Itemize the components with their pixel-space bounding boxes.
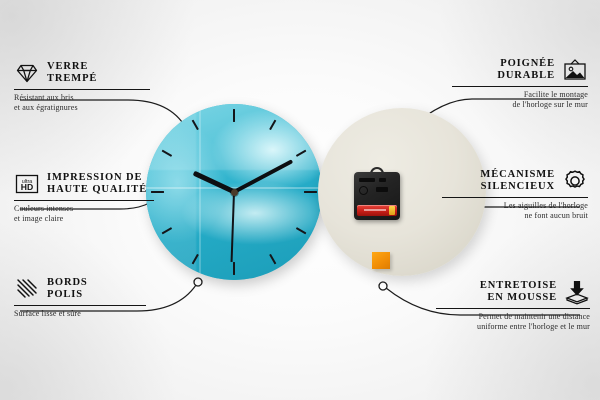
feature-header: VERRE TREMPÉ xyxy=(14,60,150,86)
arrow-press-layer-icon xyxy=(564,279,590,305)
clock-tick-3 xyxy=(234,191,322,193)
divider xyxy=(14,200,154,201)
feature-title: MÉCANISME SILENCIEUX xyxy=(480,169,555,194)
mechanism-detail xyxy=(376,187,388,192)
feature-poignee-durable: POIGNÉE DURABLE Facilite le montage de l… xyxy=(452,57,588,109)
feature-impression-haute-qualite: ultra HD IMPRESSION DE HAUTE QUALITÉ Cou… xyxy=(14,171,154,223)
feature-title: BORDS POLIS xyxy=(47,277,88,302)
feature-description: Résistant aux bris et aux égratignures xyxy=(14,93,150,112)
feature-header: ultra HD IMPRESSION DE HAUTE QUALITÉ xyxy=(14,171,154,197)
clock-mechanism xyxy=(354,172,400,220)
feature-description: Permet de maintenir une distance uniform… xyxy=(436,312,590,331)
feature-title: POIGNÉE DURABLE xyxy=(497,58,555,83)
divider xyxy=(436,308,590,309)
diamond-icon xyxy=(14,60,40,86)
battery-stripe xyxy=(364,209,386,211)
clock-tick-9 xyxy=(146,191,234,193)
feature-verre-trempe: VERRE TREMPÉ Résistant aux bris et aux é… xyxy=(14,60,150,112)
divider xyxy=(14,89,150,90)
feature-header: POIGNÉE DURABLE xyxy=(452,57,588,83)
feature-description: Surface lisse et sûre xyxy=(14,309,146,319)
connector-node-entretoise xyxy=(379,282,387,290)
divider xyxy=(442,197,588,198)
svg-text:HD: HD xyxy=(21,182,33,192)
clock-front-face xyxy=(146,104,322,280)
clock-center-cap xyxy=(231,189,238,196)
feature-title: IMPRESSION DE HAUTE QUALITÉ xyxy=(47,172,147,197)
feature-entretoise-en-mousse: ENTRETOISE EN MOUSSE Permet de maintenir… xyxy=(436,279,590,331)
foam-spacer xyxy=(372,252,390,269)
feature-header: ENTRETOISE EN MOUSSE xyxy=(436,279,590,305)
gear-icon xyxy=(562,168,588,194)
feature-description: Couleurs intenses et image claire xyxy=(14,204,154,223)
battery xyxy=(357,205,397,216)
mechanism-detail xyxy=(359,186,368,195)
mechanism-detail xyxy=(379,178,386,182)
divider xyxy=(14,305,146,306)
infographic-canvas: VERRE TREMPÉ Résistant aux bris et aux é… xyxy=(0,0,600,400)
diagonal-lines-icon xyxy=(14,276,40,302)
ultra-hd-badge-icon: ultra HD xyxy=(14,171,40,197)
feature-mecanisme-silencieux: MÉCANISME SILENCIEUX Les aiguilles de l'… xyxy=(442,168,588,220)
battery-terminal xyxy=(389,206,395,215)
divider xyxy=(452,86,588,87)
clock-tick-12 xyxy=(233,104,235,192)
feature-header: MÉCANISME SILENCIEUX xyxy=(442,168,588,194)
feature-header: BORDS POLIS xyxy=(14,276,146,302)
feature-bords-polis: BORDS POLIS Surface lisse et sûre xyxy=(14,276,146,319)
feature-title: VERRE TREMPÉ xyxy=(47,61,97,86)
picture-hanger-icon xyxy=(562,57,588,83)
feature-title: ENTRETOISE EN MOUSSE xyxy=(480,280,557,305)
mechanism-detail xyxy=(359,178,375,182)
feature-description: Les aiguilles de l'horloge ne font aucun… xyxy=(442,201,588,220)
mechanism-housing xyxy=(354,172,400,220)
feature-description: Facilite le montage de l'horloge sur le … xyxy=(452,90,588,109)
